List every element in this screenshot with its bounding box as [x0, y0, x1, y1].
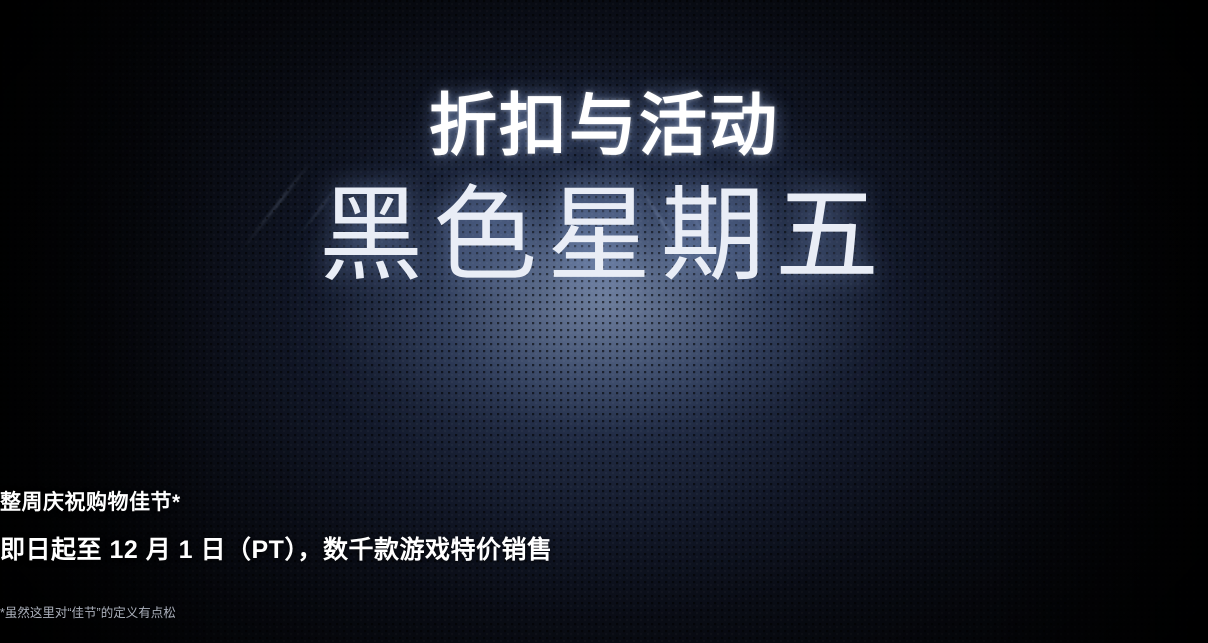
promo-text-block: 整周庆祝购物佳节* 即日起至 12 月 1 日（PT），数千款游戏特价销售 [0, 486, 1208, 566]
promo-line-2: 即日起至 12 月 1 日（PT），数千款游戏特价销售 [0, 530, 1208, 566]
promo-banner: 折扣与活动 黑色星期五 整周庆祝购物佳节* 即日起至 12 月 1 日（PT），… [0, 0, 1208, 643]
banner-headline: 折扣与活动 [429, 92, 779, 160]
promo-line-1: 整周庆祝购物佳节* [0, 486, 1208, 516]
promo-footnote: *虽然这里对“佳节”的定义有点松 [0, 602, 1208, 621]
banner-subheadline: 黑色星期五 [319, 182, 889, 291]
